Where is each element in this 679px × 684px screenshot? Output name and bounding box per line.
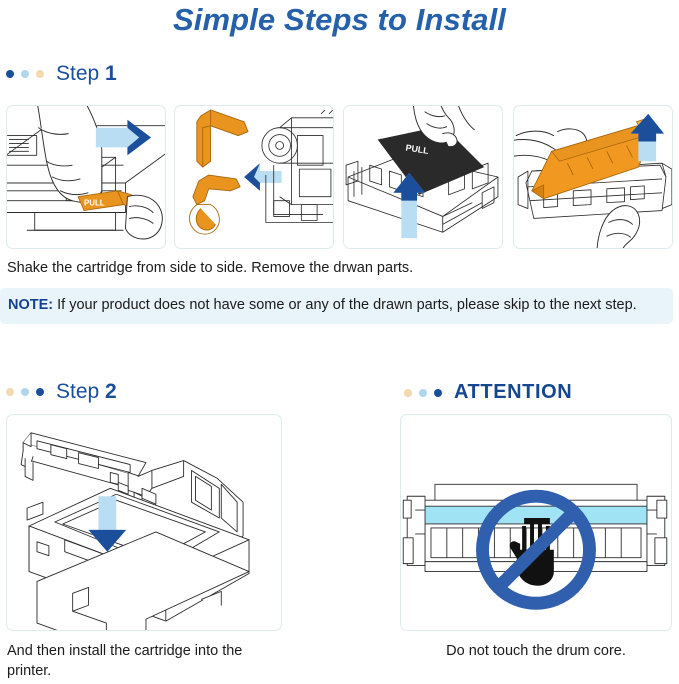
step-1-caption: Shake the cartridge from side to side. R… [7,258,667,278]
attention-heading: ATTENTION [404,381,572,404]
step-1-dots [6,70,44,78]
dot-navy-icon [6,70,14,78]
step1-panel-pull-tab: PULL [6,105,166,249]
dot-tan-icon [404,389,412,397]
svg-text:PULL: PULL [84,199,105,208]
dot-light-icon [21,70,29,78]
dot-navy-icon [434,389,442,397]
note-tag: NOTE: [8,297,53,313]
step-2-caption: And then install the cartridge into the … [7,641,275,681]
dot-light-icon [419,389,427,397]
page-title: Simple Steps to Install [0,2,679,38]
attention-label: ATTENTION [454,381,572,404]
attention-panel-drum [400,414,672,631]
step-1-label: Step 1 [56,62,117,86]
step-1-heading: Step 1 [6,62,117,86]
dot-navy-icon [36,388,44,396]
step-2-dots [6,388,44,396]
install-instructions-page: Simple Steps to Install Step 1 [0,0,679,684]
step2-panel-printer [6,414,282,631]
note-text: If your product does not have some or an… [53,297,637,313]
dot-tan-icon [6,388,14,396]
step1-panel-orange-clips [174,105,334,249]
attention-caption: Do not touch the drum core. [400,641,672,661]
step1-panel-orange-cover [513,105,673,249]
step1-panel-black-sheet: PULL [343,105,503,249]
attention-dots [404,389,442,397]
step-2-heading: Step 2 [6,380,117,404]
dot-tan-icon [36,70,44,78]
step-2-label: Step 2 [56,380,117,404]
dot-light-icon [21,388,29,396]
note-box: NOTE: If your product does not have some… [0,288,673,324]
